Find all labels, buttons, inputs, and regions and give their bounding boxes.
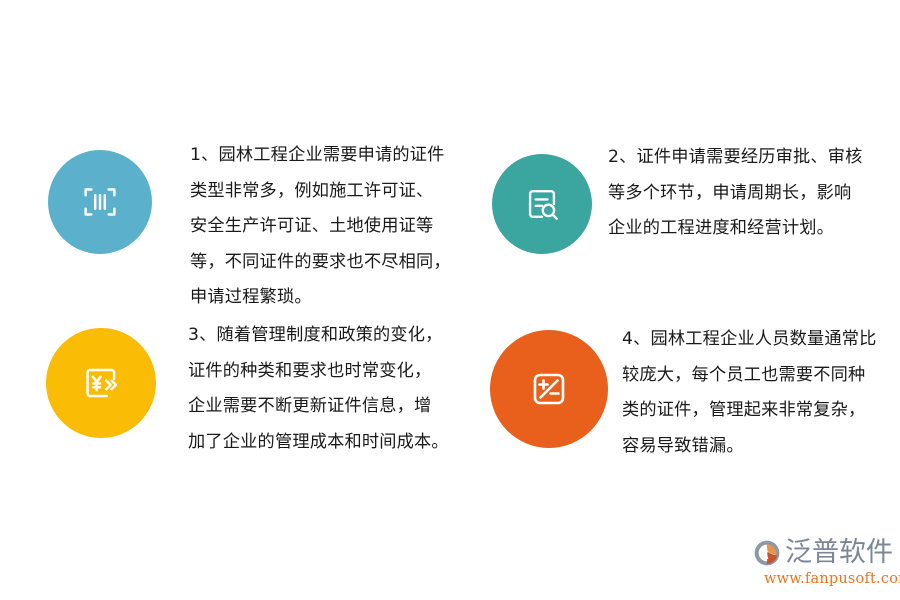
- info-item-1: 1、园林工程企业需要申请的证件 类型非常多，例如施工许可证、 安全生产许可证、土…: [48, 138, 480, 316]
- info-item-2: 2、证件申请需要经历审批、审核 等多个环节，申请周期长，影响 企业的工程进度和经…: [492, 140, 896, 254]
- infographic-board: 1、园林工程企业需要申请的证件 类型非常多，例如施工许可证、 安全生产许可证、土…: [0, 0, 900, 600]
- brand-logo: 泛普软件 www.fanpusoft.com: [752, 536, 892, 588]
- document-search-icon: [520, 182, 564, 226]
- brand-logo-row: 泛普软件: [752, 536, 893, 570]
- info-item-4-text: 4、园林工程企业人员数量通常比 较庞大，每个员工也需要不同种 类的证件，管理起来…: [622, 322, 900, 464]
- plus-minus-icon: [525, 365, 573, 413]
- info-item-3-circle: [46, 328, 156, 438]
- info-item-4-circle: [490, 330, 608, 448]
- info-item-1-text: 1、园林工程企业需要申请的证件 类型非常多，例如施工许可证、 安全生产许可证、土…: [190, 138, 480, 316]
- brand-name: 泛普软件: [785, 538, 893, 568]
- info-item-4: 4、园林工程企业人员数量通常比 较庞大，每个员工也需要不同种 类的证件，管理起来…: [490, 322, 900, 464]
- info-item-2-circle: [492, 154, 592, 254]
- info-item-1-circle: [48, 150, 152, 254]
- barcode-scan-icon: [77, 179, 123, 225]
- info-item-3-text: 3、随着管理制度和政策的变化， 证件的种类和要求也时常变化， 企业需要不断更新证…: [188, 318, 480, 460]
- brand-url: www.fanpusoft.com: [764, 571, 900, 587]
- fanpu-logo-mark-icon: [752, 538, 782, 568]
- info-item-3: 3、随着管理制度和政策的变化， 证件的种类和要求也时常变化， 企业需要不断更新证…: [46, 318, 480, 460]
- yuan-transfer-icon: [78, 360, 124, 406]
- info-item-2-text: 2、证件申请需要经历审批、审核 等多个环节，申请周期长，影响 企业的工程进度和经…: [608, 140, 896, 247]
